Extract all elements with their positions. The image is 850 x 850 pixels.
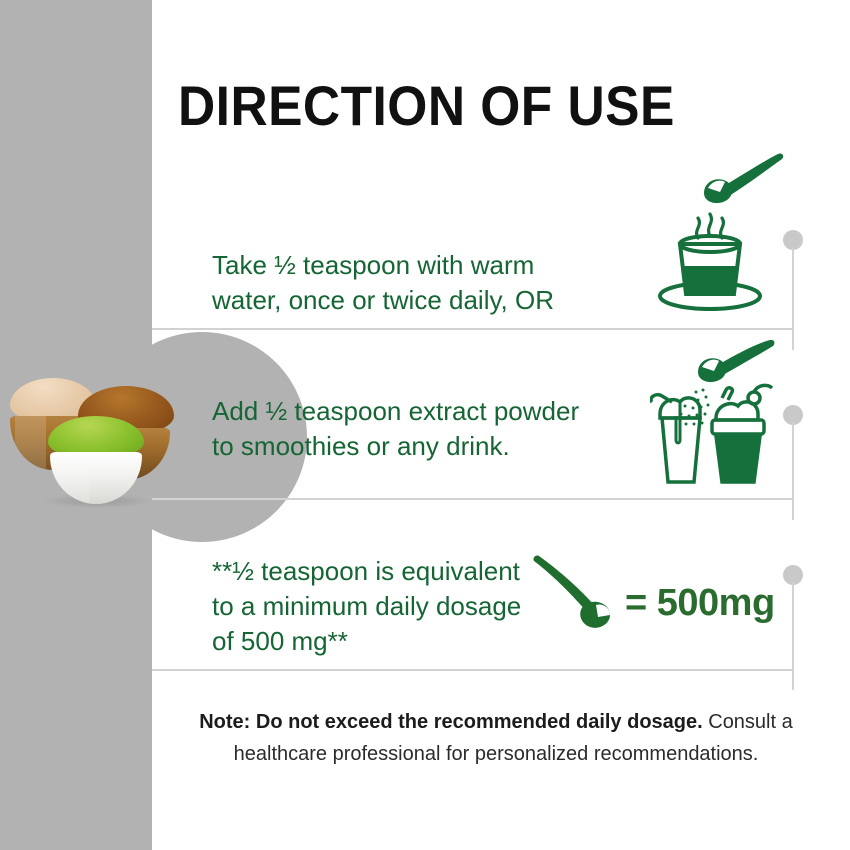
- dot-icon: [783, 405, 803, 425]
- connector-stem: [792, 248, 794, 350]
- connector-stem: [792, 583, 794, 690]
- page-title: DIRECTION OF USE: [178, 78, 675, 134]
- footer-note-bold: Note: Do not exceed the recommended dail…: [199, 711, 702, 733]
- infographic-root: DIRECTION OF USE Take ½ teaspoon with wa…: [0, 0, 850, 850]
- step-1-text: Take ½ teaspoon with warm water, once or…: [212, 248, 554, 318]
- step-3-text: **½ teaspoon is equivalent to a minimum …: [212, 554, 521, 658]
- dot-icon: [783, 230, 803, 250]
- spoon-equals-dosage-icon: [530, 555, 635, 655]
- white-bowl-green-powder: [48, 416, 144, 504]
- spoon-over-steaming-glass-icon: [658, 148, 788, 318]
- white-bowl-cup: [50, 452, 142, 504]
- connector-stem: [792, 423, 794, 520]
- step-2-text: Add ½ teaspoon extract powder to smoothi…: [212, 394, 579, 464]
- dot-icon: [783, 565, 803, 585]
- dosage-equivalence-label: = 500mg: [625, 582, 775, 625]
- spoon-sprinkling-smoothies-icon: [650, 340, 795, 495]
- footer-note: Note: Do not exceed the recommended dail…: [186, 706, 806, 770]
